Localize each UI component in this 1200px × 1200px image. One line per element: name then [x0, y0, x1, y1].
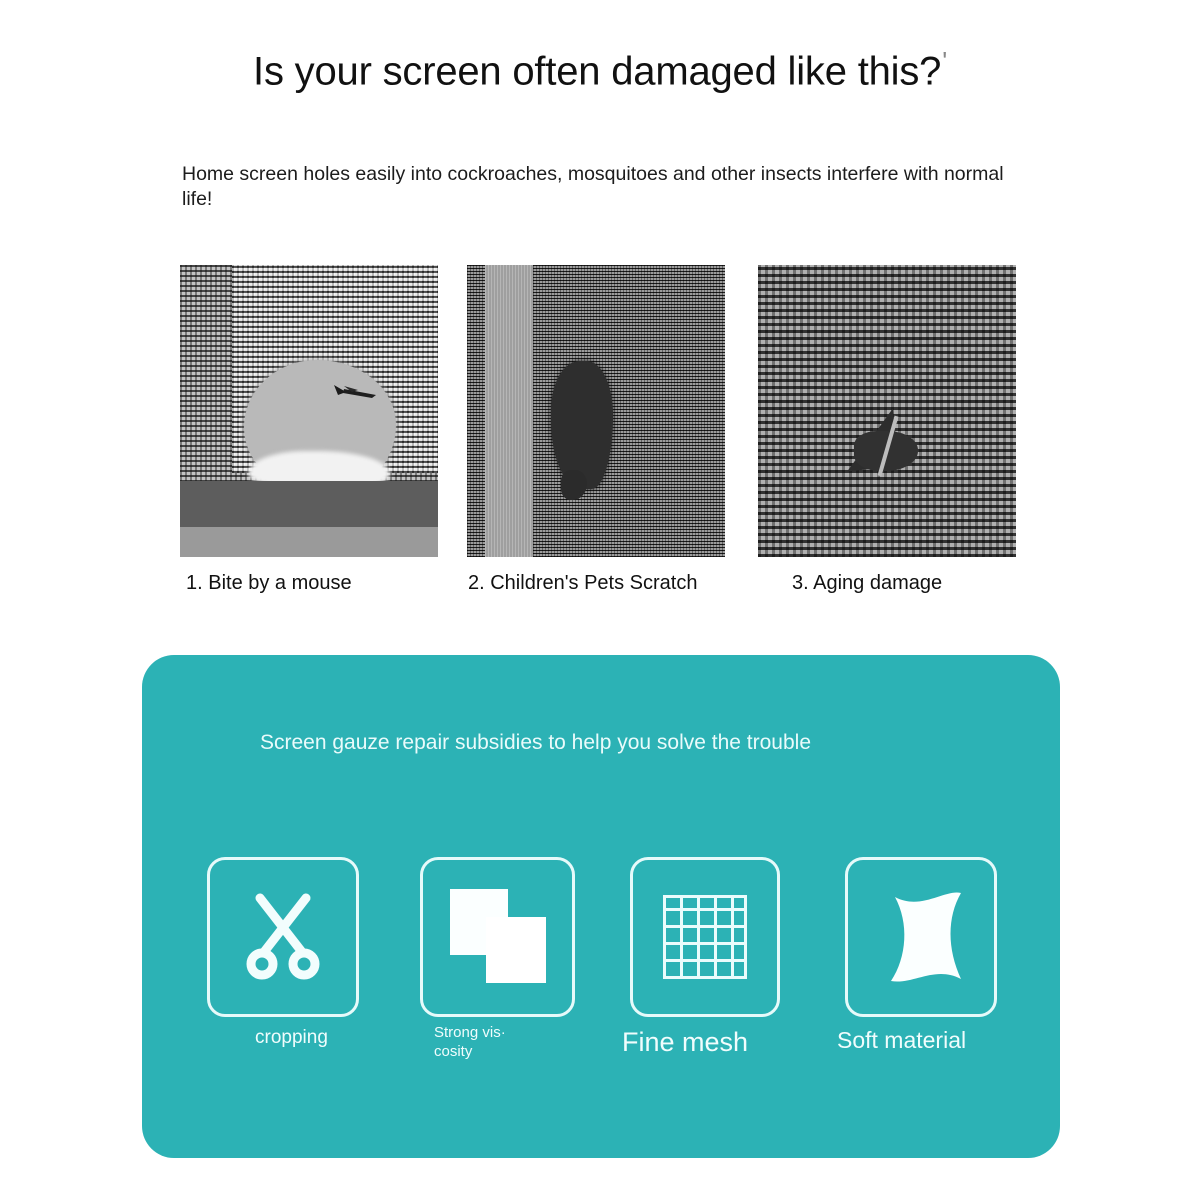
feature-icon-box — [630, 857, 780, 1017]
feature-label: Strong vis· cosity — [434, 1023, 554, 1061]
mouse-bite-screen-photo — [180, 265, 438, 557]
insect-icon — [332, 383, 378, 399]
photo-caption-2: 2. Children's Pets Scratch — [468, 572, 697, 595]
photo-caption-1: 1. Bite by a mouse — [186, 572, 352, 595]
pet-scratch-screen-photo — [467, 265, 725, 557]
feature-label: cropping — [255, 1027, 328, 1049]
feature-label-line2: cosity — [434, 1043, 472, 1060]
feature-label-line1: Strong vis· — [434, 1024, 506, 1041]
soft-cloth-icon — [873, 887, 969, 987]
scissors-icon — [240, 890, 326, 984]
photo-caption-3: 3. Aging damage — [792, 572, 942, 595]
window-sill-light — [180, 527, 438, 557]
window-sill-dark — [180, 481, 438, 527]
window-frame-strip — [485, 265, 533, 557]
feature-cropping[interactable]: cropping — [207, 857, 359, 1017]
feature-icon-box — [420, 857, 575, 1017]
mesh-grid-icon — [663, 895, 747, 979]
feature-icon-box — [207, 857, 359, 1017]
feature-list: cropping Strong vis· cosity Fine mesh — [142, 857, 1060, 1107]
panel-heading: Screen gauze repair subsidies to help yo… — [260, 727, 920, 759]
aging-damage-screen-photo — [758, 265, 1016, 557]
feature-soft-material[interactable]: Soft material — [845, 857, 997, 1017]
feature-icon-box — [845, 857, 997, 1017]
feature-fine-mesh[interactable]: Fine mesh — [630, 857, 780, 1017]
title-trailing-mark: ' — [942, 46, 947, 76]
photo-captions: 1. Bite by a mouse 2. Children's Pets Sc… — [0, 572, 1200, 604]
overlapping-squares-icon — [446, 885, 550, 989]
page-title-text: Is your screen often damaged like this? — [253, 49, 941, 93]
screen-tear — [551, 361, 613, 489]
repair-solution-panel: Screen gauze repair subsidies to help yo… — [142, 655, 1060, 1158]
damage-photo-row — [180, 265, 1020, 557]
page-title: Is your screen often damaged like this?' — [0, 46, 1200, 94]
feature-label: Fine mesh — [622, 1027, 748, 1058]
subtitle-text: Home screen holes easily into cockroache… — [182, 162, 1027, 212]
feature-label: Soft material — [837, 1027, 966, 1054]
feature-strong-viscosity[interactable]: Strong vis· cosity — [420, 857, 575, 1017]
